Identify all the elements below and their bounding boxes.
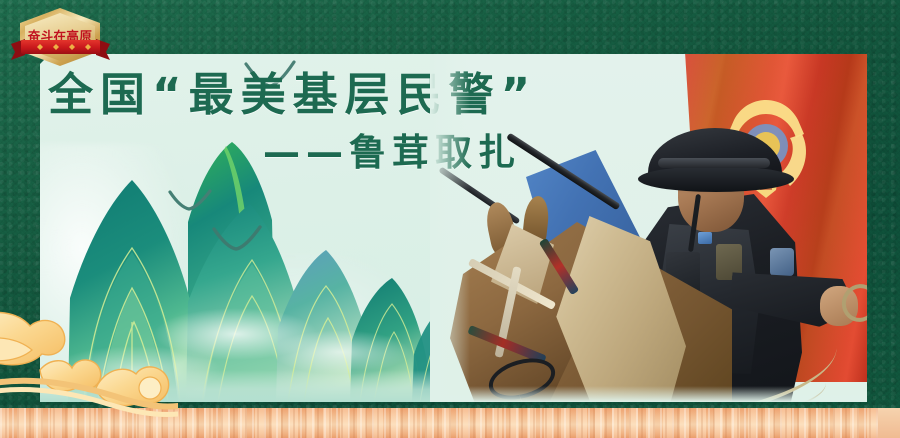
- award-badge: 奋斗在高原: [9, 6, 112, 68]
- shoulder-patch: [770, 248, 794, 276]
- photo-left-fade: [430, 54, 470, 402]
- bird-icon-2: [212, 224, 262, 254]
- bird-icon-1: [168, 188, 212, 214]
- cloud-swirl-left: [0, 312, 65, 364]
- photo-bottom-fade: [430, 386, 867, 402]
- fog-band-2: [270, 330, 410, 374]
- officer-hat-band: [658, 158, 770, 168]
- banner-root: 全国“最美基层民警” ——鲁茸取扎: [0, 0, 900, 438]
- title-block: 全国“最美基层民警” ——鲁茸取扎: [48, 72, 608, 171]
- auspicious-cloud-decoration: [0, 292, 178, 422]
- officer-hat-brim: [638, 166, 794, 192]
- page-title: 全国“最美基层民警”: [48, 72, 608, 117]
- wood-strip-right-cap: [878, 408, 900, 438]
- vest-badge-patch: [698, 232, 712, 244]
